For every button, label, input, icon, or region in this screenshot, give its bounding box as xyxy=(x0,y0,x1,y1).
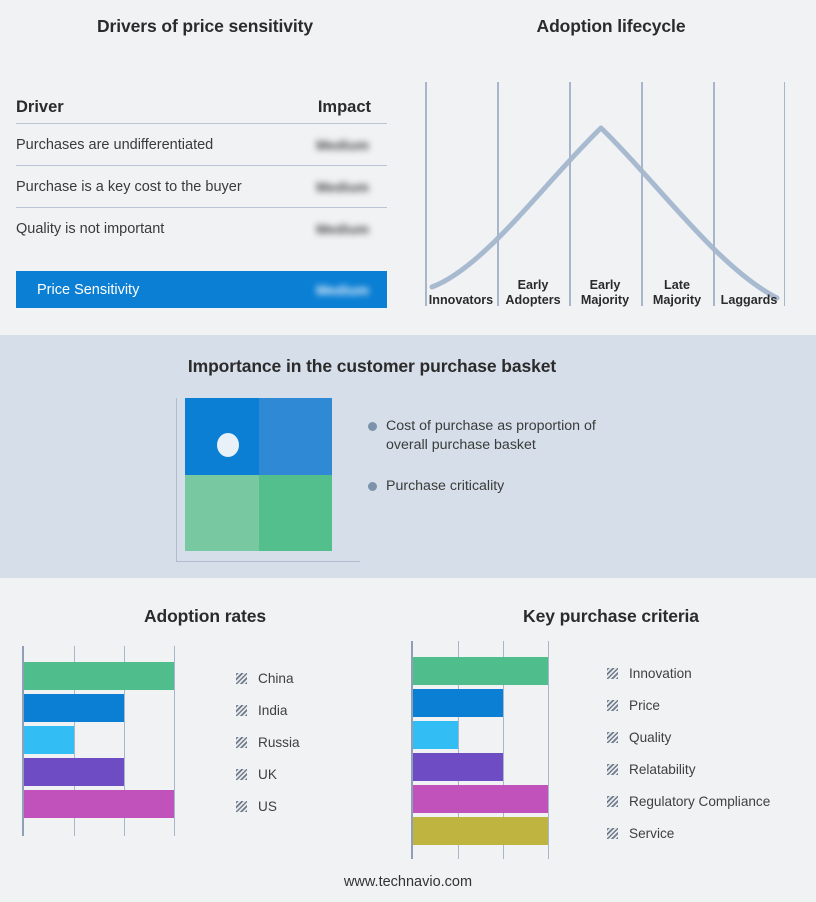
lifecycle-divider xyxy=(784,82,786,306)
table-header-row: Driver Impact xyxy=(16,92,387,124)
legend-label: India xyxy=(258,703,287,718)
hatch-swatch-icon xyxy=(607,796,618,807)
hatch-swatch-icon xyxy=(607,732,618,743)
legend-label: Price xyxy=(629,698,660,713)
legend-item: Relatability xyxy=(607,753,770,785)
bar-quality xyxy=(413,721,458,749)
matrix-position-marker xyxy=(217,433,239,457)
legend-label: Innovation xyxy=(629,666,692,681)
legend-label: Regulatory Compliance xyxy=(629,794,770,809)
legend-label: China xyxy=(258,671,294,686)
legend-label: Russia xyxy=(258,735,300,750)
legend-item: Cost of purchase as proportion of overal… xyxy=(368,417,668,455)
adoption-bell-curve xyxy=(425,82,785,306)
column-header-driver: Driver xyxy=(16,98,64,117)
driver-label: Purchases are undifferentiated xyxy=(16,137,213,153)
adoption-rates-legend: ChinaIndiaRussiaUKUS xyxy=(236,662,300,822)
lifecycle-divider xyxy=(425,82,427,306)
legend-label: US xyxy=(258,799,277,814)
lifecycle-label-early-majority: Early Majority xyxy=(569,278,641,307)
infographic-page: Drivers of price sensitivity Driver Impa… xyxy=(0,0,816,902)
bar-india xyxy=(24,694,124,722)
legend-item: Service xyxy=(607,817,770,849)
impact-value-redacted: Medium xyxy=(316,137,387,153)
matrix-quadrant-top-right xyxy=(259,398,333,475)
legend-item: Quality xyxy=(607,721,770,753)
table-row: Quality is not important Medium xyxy=(16,208,387,250)
gridline xyxy=(174,646,175,836)
table-row: Purchase is a key cost to the buyer Medi… xyxy=(16,166,387,208)
bar-uk xyxy=(24,758,124,786)
hatch-swatch-icon xyxy=(607,700,618,711)
bar-price xyxy=(413,689,503,717)
bullet-icon xyxy=(368,422,377,431)
lifecycle-divider xyxy=(497,82,499,306)
driver-label: Purchase is a key cost to the buyer xyxy=(16,179,242,195)
bar-innovation xyxy=(413,657,548,685)
legend-item: Regulatory Compliance xyxy=(607,785,770,817)
legend-item: Price xyxy=(607,689,770,721)
column-header-impact: Impact xyxy=(318,98,387,117)
drivers-panel-title: Drivers of price sensitivity xyxy=(0,16,410,37)
price-sensitivity-summary-row: Price Sensitivity Medium xyxy=(16,271,387,308)
lifecycle-label-laggards: Laggards xyxy=(713,293,785,308)
key-purchase-criteria-legend: InnovationPriceQualityRelatabilityRegula… xyxy=(607,657,770,849)
summary-driver-label: Price Sensitivity xyxy=(37,282,139,298)
hatch-swatch-icon xyxy=(236,737,247,748)
lifecycle-divider xyxy=(569,82,571,306)
matrix-quadrant-bottom-left xyxy=(185,475,259,552)
key-purchase-criteria-chart xyxy=(411,641,593,859)
hatch-swatch-icon xyxy=(236,801,247,812)
lifecycle-label-early-adopters: Early Adopters xyxy=(497,278,569,307)
bullet-icon xyxy=(368,482,377,491)
hatch-swatch-icon xyxy=(607,668,618,679)
purchase-basket-matrix xyxy=(176,398,362,564)
gridline xyxy=(548,641,549,859)
matrix-quadrant-bottom-right xyxy=(259,475,333,552)
impact-value-redacted: Medium xyxy=(316,179,387,195)
legend-item: US xyxy=(236,790,300,822)
lifecycle-divider xyxy=(713,82,715,306)
hatch-swatch-icon xyxy=(236,705,247,716)
legend-item: Innovation xyxy=(607,657,770,689)
lifecycle-label-late-majority: Late Majority xyxy=(641,278,713,307)
hatch-swatch-icon xyxy=(236,673,247,684)
bar-service xyxy=(413,817,548,845)
bar-regulatory-compliance xyxy=(413,785,548,813)
legend-label: UK xyxy=(258,767,277,782)
hatch-swatch-icon xyxy=(607,764,618,775)
footer-url: www.technavio.com xyxy=(0,874,816,890)
hatch-swatch-icon xyxy=(236,769,247,780)
driver-label: Quality is not important xyxy=(16,221,164,237)
bar-china xyxy=(24,662,174,690)
key-purchase-criteria-title: Key purchase criteria xyxy=(406,606,816,627)
impact-value-redacted: Medium xyxy=(316,221,387,237)
bar-us xyxy=(24,790,174,818)
legend-label: Cost of purchase as proportion of overal… xyxy=(386,417,636,455)
adoption-rates-chart xyxy=(22,646,224,836)
matrix-legend: Cost of purchase as proportion of overal… xyxy=(368,417,668,518)
legend-item: Purchase criticality xyxy=(368,477,668,496)
legend-item: India xyxy=(236,694,300,726)
summary-impact-value-redacted: Medium xyxy=(316,282,387,298)
hatch-swatch-icon xyxy=(607,828,618,839)
bar-russia xyxy=(24,726,74,754)
legend-item: China xyxy=(236,662,300,694)
matrix-quadrants xyxy=(185,398,332,551)
drivers-table: Driver Impact Purchases are undifferenti… xyxy=(16,92,387,250)
legend-label: Purchase criticality xyxy=(386,477,504,496)
lifecycle-panel-title: Adoption lifecycle xyxy=(406,16,816,37)
legend-item: Russia xyxy=(236,726,300,758)
bar-relatability xyxy=(413,753,503,781)
lifecycle-label-innovators: Innovators xyxy=(425,293,497,308)
adoption-rates-title: Adoption rates xyxy=(0,606,410,627)
legend-label: Quality xyxy=(629,730,671,745)
legend-label: Relatability xyxy=(629,762,696,777)
legend-label: Service xyxy=(629,826,674,841)
lifecycle-divider xyxy=(641,82,643,306)
table-row: Purchases are undifferentiated Medium xyxy=(16,124,387,166)
adoption-lifecycle-chart: InnovatorsEarly AdoptersEarly MajorityLa… xyxy=(425,82,785,306)
importance-panel-title: Importance in the customer purchase bask… xyxy=(0,356,744,377)
legend-item: UK xyxy=(236,758,300,790)
